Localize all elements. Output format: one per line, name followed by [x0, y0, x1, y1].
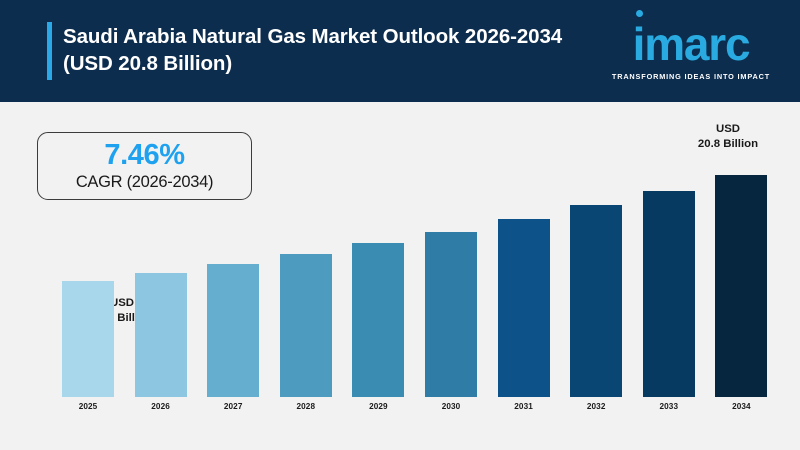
- x-axis-label-2032: 2032: [570, 402, 622, 411]
- x-axis-label-2029: 2029: [352, 402, 404, 411]
- bar-2030: [425, 232, 477, 397]
- start-value-callout: USD 10.9 Billion: [62, 296, 182, 326]
- bar-2034: [715, 175, 767, 397]
- title-accent-bar: [47, 22, 52, 80]
- end-value-amount: 20.8 Billion: [668, 137, 788, 152]
- header-banner: Saudi Arabia Natural Gas Market Outlook …: [0, 0, 800, 102]
- logo-wordmark-icon: imarc: [633, 21, 750, 67]
- end-value-currency: USD: [668, 122, 788, 137]
- x-axis-label-2034: 2034: [715, 402, 767, 411]
- cagr-callout-box: 7.46% CAGR (2026-2034): [37, 132, 252, 200]
- logo-wordmark-text: imarc: [633, 18, 750, 70]
- bar-2031: [498, 219, 550, 397]
- bar-2032: [570, 205, 622, 397]
- end-value-callout: USD 20.8 Billion: [668, 122, 788, 152]
- start-value-currency: USD: [62, 296, 182, 311]
- logo-dot-icon: [636, 10, 643, 17]
- x-axis-label-2033: 2033: [643, 402, 695, 411]
- cagr-value: 7.46%: [104, 140, 184, 170]
- x-axis-label-2028: 2028: [280, 402, 332, 411]
- bar-2027: [207, 264, 259, 397]
- x-axis-label-2030: 2030: [425, 402, 477, 411]
- x-axis-label-2031: 2031: [498, 402, 550, 411]
- logo-tagline: TRANSFORMING IDEAS INTO IMPACT: [612, 72, 770, 81]
- x-axis-label-2027: 2027: [207, 402, 259, 411]
- bar-2026: [135, 273, 187, 397]
- bar-2028: [280, 254, 332, 397]
- x-axis-label-2026: 2026: [135, 402, 187, 411]
- x-axis-label-2025: 2025: [62, 402, 114, 411]
- bar-2029: [352, 243, 404, 397]
- bar-2033: [643, 191, 695, 397]
- cagr-label: CAGR (2026-2034): [76, 173, 213, 192]
- infographic-page: Saudi Arabia Natural Gas Market Outlook …: [0, 0, 800, 450]
- imarc-logo: imarc TRANSFORMING IDEAS INTO IMPACT: [606, 14, 776, 88]
- page-title: Saudi Arabia Natural Gas Market Outlook …: [63, 23, 583, 78]
- start-value-amount: 10.9 Billion: [62, 311, 182, 326]
